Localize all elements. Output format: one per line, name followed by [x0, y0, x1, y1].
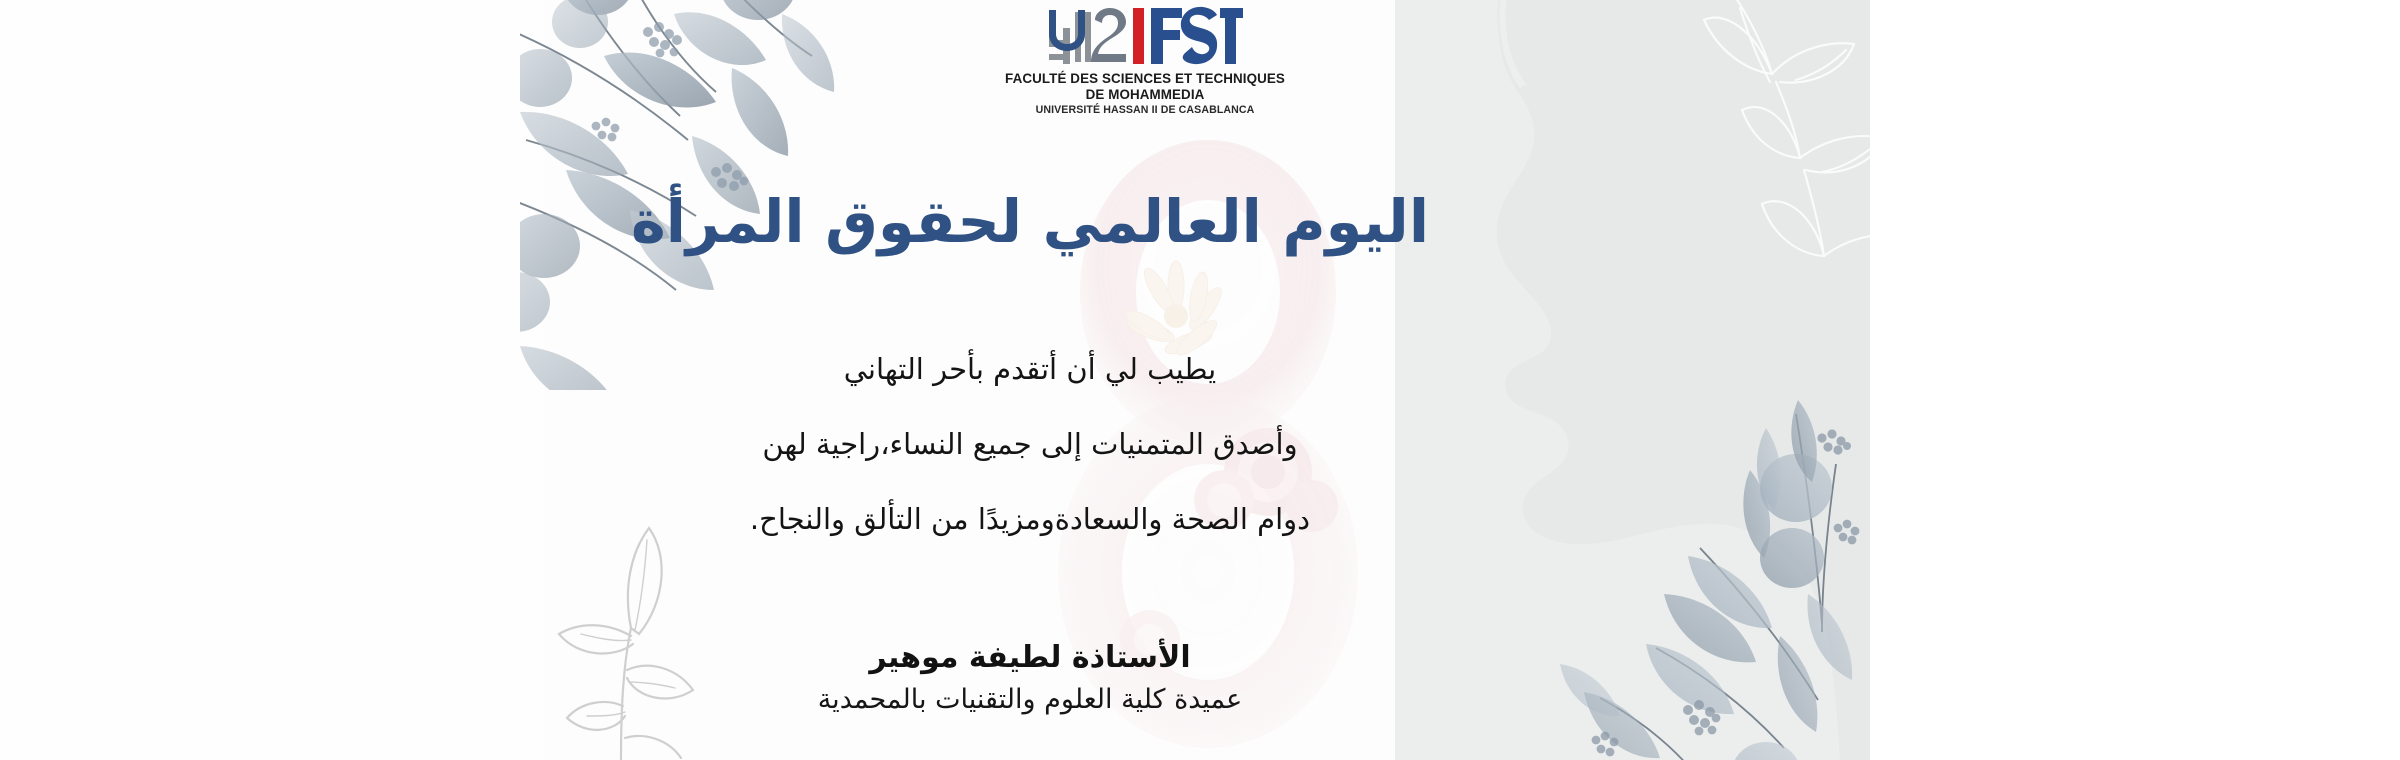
white-leaf-line-art-decoration [1640, 0, 1910, 320]
logo-university-line: UNIVERSITÉ HASSAN II DE CASABLANCA [1000, 104, 1290, 117]
logo-faculty-line: FACULTÉ DES SCIENCES ET TECHNIQUES [1000, 71, 1290, 87]
page-title: اليوم العالمي لحقوق المرأة [620, 185, 1440, 259]
message-line-1: يطيب لي أن أتقدم بأحر التهاني [600, 355, 1460, 384]
signature-block: الأستاذة لطيفة موهير عميدة كلية العلوم و… [620, 640, 1440, 717]
fst-logo-mark [1047, 6, 1243, 68]
logo-city-line: DE MOHAMMEDIA [1000, 87, 1290, 103]
university-logo-block: FACULTÉ DES SCIENCES ET TECHNIQUES DE MO… [1000, 6, 1290, 116]
right-white-margin [1858, 0, 2400, 760]
message-body: يطيب لي أن أتقدم بأحر التهاني وأصدق المت… [600, 355, 1460, 534]
signature-name: الأستاذة لطيفة موهير [620, 640, 1440, 675]
left-white-margin [0, 0, 560, 760]
womens-day-greeting-poster: FACULTÉ DES SCIENCES ET TECHNIQUES DE MO… [0, 0, 2400, 760]
message-line-2: وأصدق المتمنيات إلى جميع النساء،راجية له… [600, 430, 1460, 459]
message-line-3: دوام الصحة والسعادةومزيدًا من التألق وال… [600, 505, 1460, 534]
signature-role: عميدة كلية العلوم والتقنيات بالمحمدية [620, 684, 1440, 716]
